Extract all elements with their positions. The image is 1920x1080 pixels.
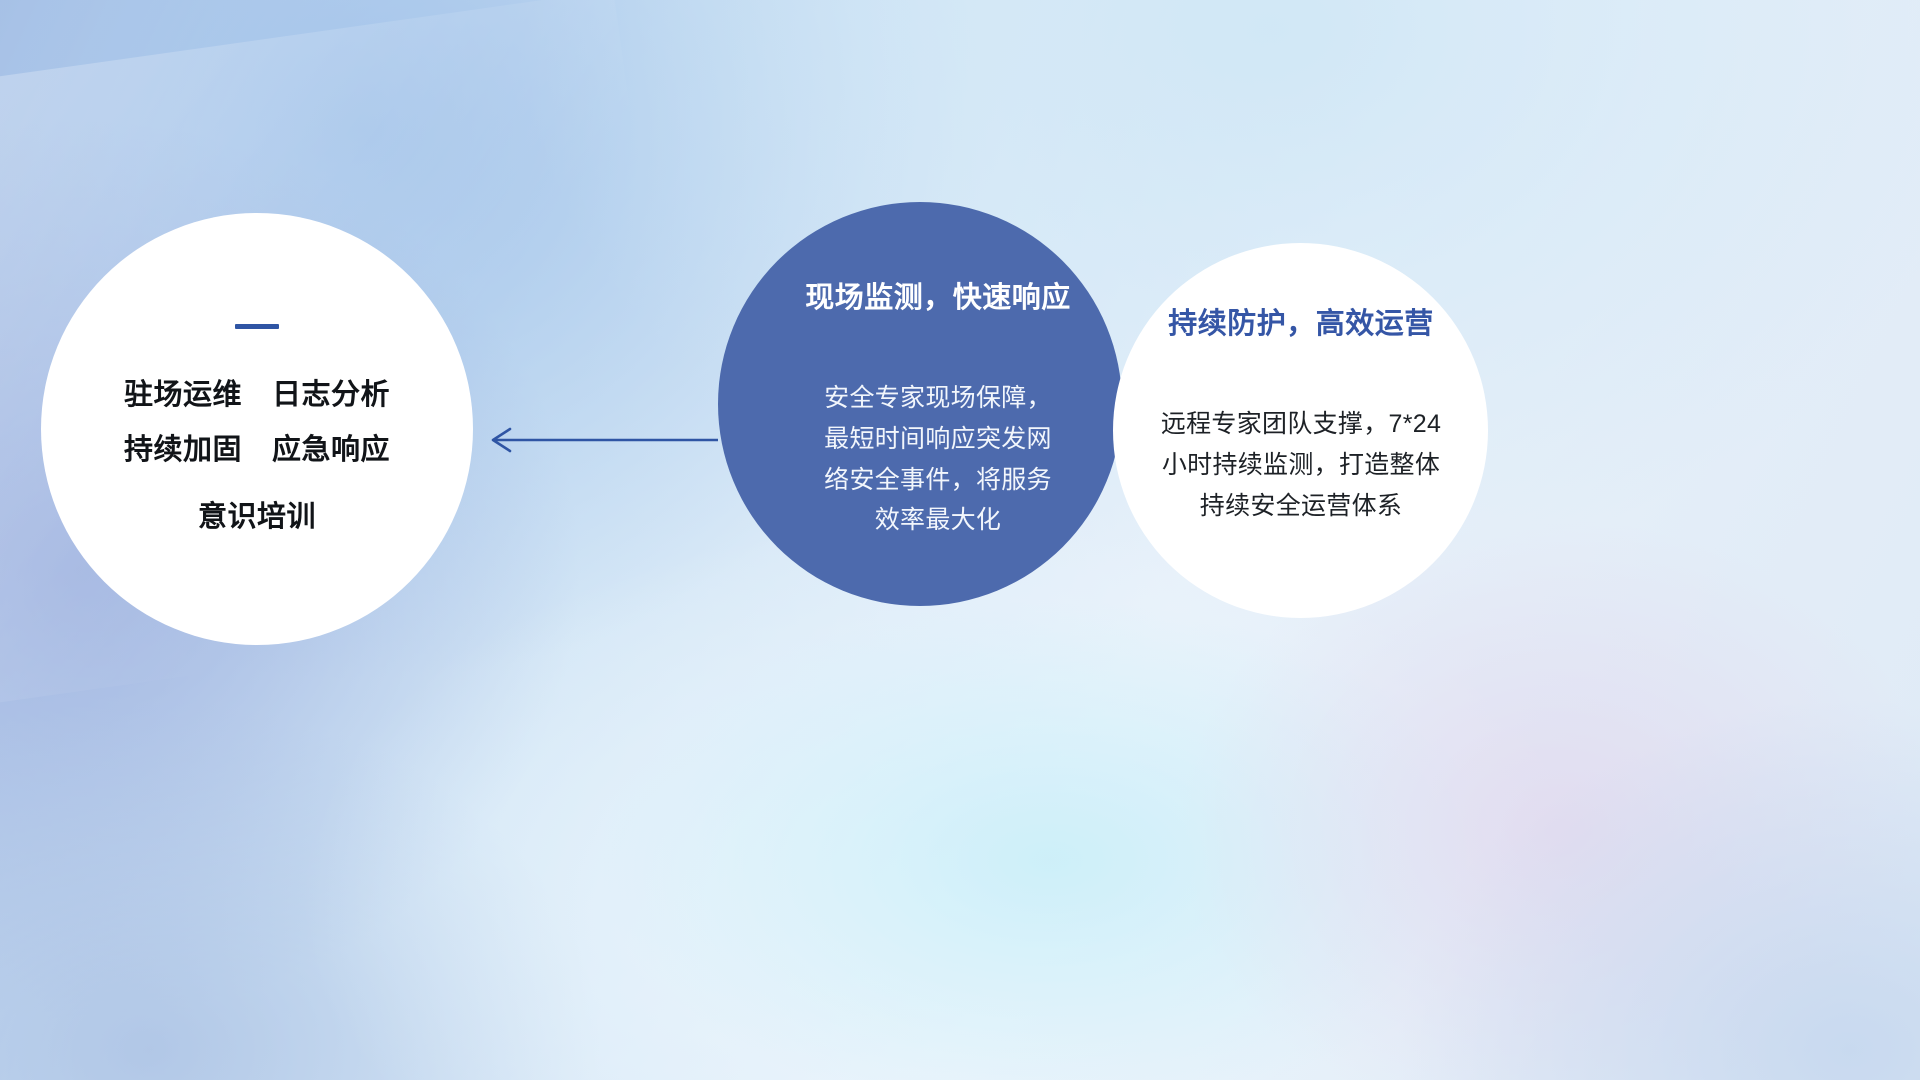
capability-row: 持续加固 应急响应 <box>124 426 390 468</box>
arrow-left-icon <box>480 412 720 468</box>
body-line: 远程专家团队支撑，7*24 <box>1131 404 1471 445</box>
right-circle-body: 远程专家团队支撑，7*24 小时持续监测，打造整体 持续安全运营体系 <box>1131 404 1471 526</box>
middle-circle-content: 现场监测，快速响应 安全专家现场保障， 最短时间响应突发网 络安全事件，将服务 … <box>768 274 1108 541</box>
middle-circle-heading: 现场监测，快速响应 <box>768 274 1108 316</box>
capability-row: 意识培训 <box>198 493 316 535</box>
body-line: 效率最大化 <box>768 500 1108 541</box>
capability-tag[interactable]: 日志分析 <box>272 371 390 413</box>
capability-row: 驻场运维 日志分析 <box>124 371 390 413</box>
middle-onsite-circle[interactable]: 现场监测，快速响应 安全专家现场保障， 最短时间响应突发网 络安全事件，将服务 … <box>718 202 1122 606</box>
divider-dash <box>235 324 279 329</box>
right-circle-heading: 持续防护，高效运营 <box>1131 300 1471 342</box>
body-line: 最短时间响应突发网 <box>768 419 1108 460</box>
body-line: 安全专家现场保障， <box>768 378 1108 419</box>
body-line: 络安全事件，将服务 <box>768 460 1108 501</box>
capability-tag[interactable]: 持续加固 <box>124 426 242 468</box>
right-operations-circle[interactable]: 持续防护，高效运营 远程专家团队支撑，7*24 小时持续监测，打造整体 持续安全… <box>1113 243 1488 618</box>
background-glow-bottom-right <box>1400 700 1920 1080</box>
capability-tag-list: 驻场运维 日志分析 持续加固 应急响应 意识培训 <box>124 371 390 535</box>
capability-tag[interactable]: 意识培训 <box>198 493 316 535</box>
right-circle-content: 持续防护，高效运营 远程专家团队支撑，7*24 小时持续监测，打造整体 持续安全… <box>1131 300 1471 526</box>
capability-tag[interactable]: 驻场运维 <box>124 371 242 413</box>
body-line: 小时持续监测，打造整体 <box>1131 445 1471 486</box>
middle-circle-body: 安全专家现场保障， 最短时间响应突发网 络安全事件，将服务 效率最大化 <box>768 378 1108 541</box>
capability-tag[interactable]: 应急响应 <box>272 426 390 468</box>
body-line: 持续安全运营体系 <box>1131 486 1471 527</box>
left-capability-circle[interactable]: 驻场运维 日志分析 持续加固 应急响应 意识培训 <box>41 213 473 645</box>
